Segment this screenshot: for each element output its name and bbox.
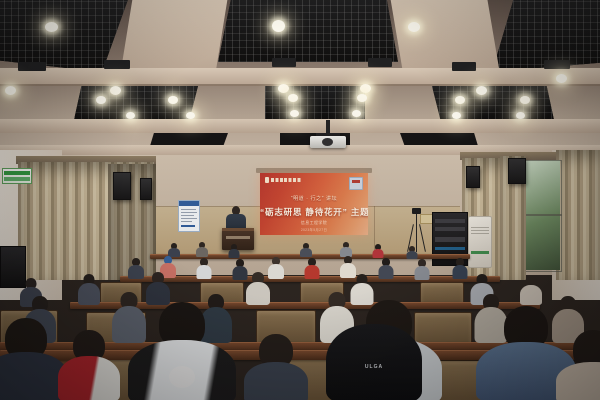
- ceiling-downlight: [516, 112, 525, 119]
- ceiling-downlight: [168, 96, 178, 104]
- person-torso: [372, 249, 383, 258]
- ceiling-coffer: [74, 86, 198, 120]
- ceiling: [0, 0, 600, 165]
- poster-text-line: [181, 215, 194, 216]
- poster-text-line: [181, 225, 195, 227]
- person-torso: [414, 266, 429, 280]
- light-housing: [272, 58, 296, 67]
- audience-member: [244, 334, 308, 400]
- audience-member: [304, 258, 319, 278]
- audience-member: [406, 246, 417, 258]
- audience-member: [78, 274, 100, 304]
- poster-text-line: [181, 209, 196, 210]
- audience-member: [168, 243, 180, 256]
- ceiling-downlight: [352, 110, 361, 117]
- ceiling-downlight: [520, 96, 530, 104]
- person-torso: [520, 285, 542, 305]
- ceiling-beam: [120, 0, 228, 76]
- ceiling-downlight: [288, 94, 298, 102]
- audience-member: [372, 244, 383, 257]
- university-logo-icon: [265, 177, 269, 183]
- rack-slot: [435, 219, 465, 223]
- projection-screen: “明道 · 行之” 讲坛 “砺志研思 静待花开” 主题报告会 信息工程学院 20…: [260, 173, 368, 235]
- window-curtain: [556, 150, 600, 280]
- ceiling-downlight: [556, 74, 567, 83]
- ac-vent: [471, 230, 489, 231]
- rack-slot: [435, 247, 465, 250]
- auditorium-photo: “明道 · 行之” 讲坛 “砺志研思 静待花开” 主题报告会 信息工程学院 20…: [0, 0, 600, 400]
- audience-member: [268, 257, 284, 278]
- ceiling-downlight: [45, 22, 58, 32]
- ac-vent: [471, 233, 489, 234]
- ceiling-beam-horizontal: [0, 119, 600, 133]
- university-logo-text: [271, 178, 301, 182]
- audience-member: [300, 243, 312, 256]
- person-torso: [268, 264, 284, 279]
- lectern-top: [222, 228, 254, 231]
- person-torso: [326, 324, 422, 400]
- ceiling-downlight: [476, 86, 487, 95]
- person-torso: [196, 247, 208, 257]
- audience-member: [520, 276, 542, 304]
- person-torso: [232, 266, 247, 280]
- green-safety-sign: [2, 168, 32, 184]
- person-torso: [128, 265, 144, 279]
- person-torso: [452, 265, 467, 279]
- light-housing: [368, 58, 392, 67]
- ceiling-coffer: [218, 0, 398, 62]
- ceiling-downlight: [452, 112, 461, 119]
- sign-band: [4, 171, 30, 175]
- ceiling-downlight: [278, 84, 289, 93]
- tripod-leg: [419, 224, 426, 252]
- audience-member: [58, 330, 120, 400]
- window-frame: [520, 160, 562, 272]
- ceiling-downlight: [290, 110, 299, 117]
- slide-date-text: 2023年5月27日: [260, 227, 368, 232]
- audience-member: [378, 258, 393, 278]
- audience-member-foreground: [128, 302, 236, 400]
- audience-member: [414, 259, 429, 279]
- audience-member: [246, 272, 270, 304]
- slide-title-text: “砺志研思 静待花开” 主题报告会: [260, 206, 368, 218]
- person-torso: [378, 265, 393, 279]
- audience-member-foreground: [556, 330, 600, 400]
- sign-band: [4, 177, 30, 181]
- slide-organization-text: 信息工程学院: [260, 220, 368, 226]
- notice-poster: [178, 200, 200, 232]
- ac-vent: [471, 227, 489, 228]
- ceiling-downlight: [408, 22, 420, 32]
- audience-member: [340, 242, 352, 256]
- light-housing: [18, 62, 46, 71]
- light-housing: [452, 62, 476, 71]
- ceiling-downlight: [126, 112, 135, 119]
- poster-text-line: [181, 218, 197, 219]
- rack-slot: [435, 237, 465, 242]
- slide-kicker-text: “明道 · 行之” 讲坛: [260, 195, 368, 202]
- person-torso: [228, 249, 239, 258]
- ceiling-coffer: [432, 86, 554, 120]
- ceiling-downlight: [360, 84, 371, 93]
- light-housing: [544, 60, 570, 69]
- rack-slot: [435, 227, 465, 231]
- ceiling-beam: [390, 0, 500, 74]
- window-mullion: [520, 214, 562, 216]
- ceiling-downlight: [272, 20, 285, 32]
- wall-speaker: [113, 172, 131, 200]
- audience-member: [228, 244, 239, 257]
- poster-header: [179, 201, 199, 206]
- light-housing: [104, 60, 130, 69]
- wall-speaker: [508, 158, 526, 184]
- university-wordmark: [265, 177, 301, 183]
- poster-text-line: [181, 221, 192, 222]
- ceiling-downlight: [5, 86, 16, 95]
- ceiling-downlight: [186, 112, 195, 119]
- person-torso: [406, 251, 417, 259]
- person-torso: [304, 265, 319, 279]
- projector-lens: [322, 138, 333, 146]
- wall-speaker: [140, 178, 152, 200]
- person-torso: [196, 265, 211, 279]
- ac-display: [471, 251, 489, 254]
- ceiling-downlight: [357, 94, 367, 102]
- slide-corner-badge: [349, 177, 363, 190]
- lectern-nameplate: [226, 236, 250, 239]
- ceiling-downlight: [110, 86, 121, 95]
- audience-member: [128, 258, 144, 278]
- person-torso: [556, 362, 600, 400]
- floor-air-conditioner: [468, 216, 492, 268]
- poster-text-line: [181, 212, 197, 213]
- badge-stripe: [352, 180, 360, 183]
- person-torso: [58, 356, 120, 400]
- shirt-text: ULGA: [365, 364, 383, 370]
- audience-member: [196, 258, 211, 278]
- audience-member: [452, 258, 467, 278]
- person-torso: [78, 283, 100, 305]
- shirt-graphic: [169, 366, 195, 388]
- audience-member: [232, 259, 247, 279]
- projector-mount: [326, 120, 330, 134]
- person-torso: [300, 248, 312, 257]
- audience-member: [146, 272, 170, 304]
- audience-member-foreground: ULGA: [326, 324, 422, 400]
- ceiling-downlight: [455, 96, 465, 104]
- person-torso: [244, 362, 308, 400]
- ceiling-downlight: [96, 96, 106, 104]
- audience-member: [196, 242, 208, 256]
- person-torso: [246, 282, 270, 305]
- wall-speaker: [466, 166, 480, 188]
